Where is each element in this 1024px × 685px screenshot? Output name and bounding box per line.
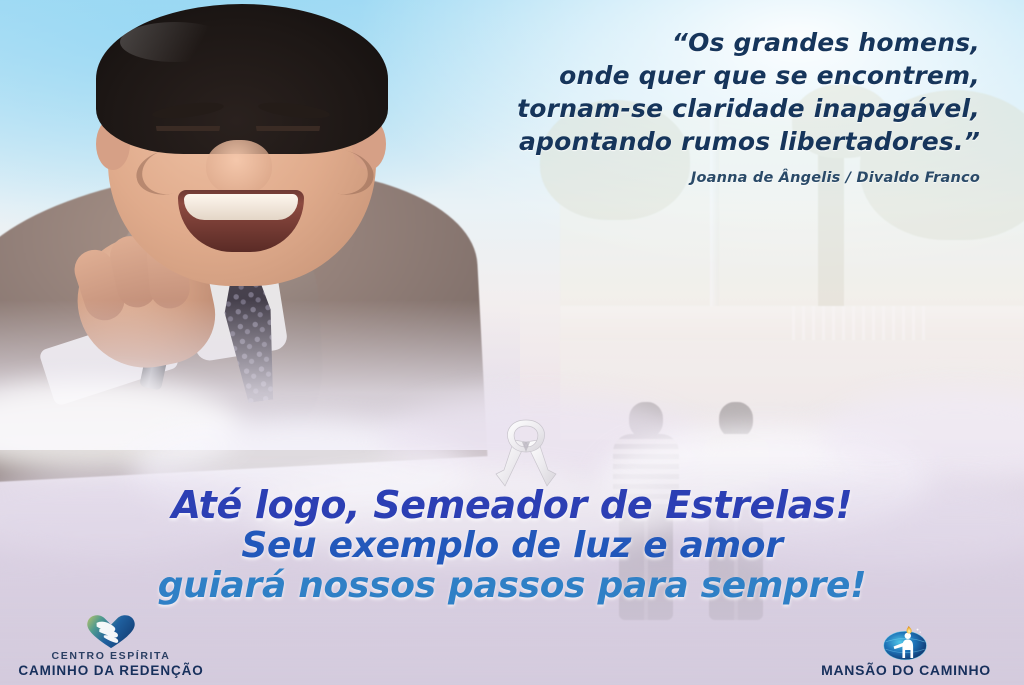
portrait-eye bbox=[156, 126, 220, 143]
photo-person-head bbox=[629, 402, 663, 438]
portrait-teeth bbox=[184, 194, 298, 220]
quote-block: “Os grandes homens, onde quer que se enc… bbox=[420, 26, 980, 186]
heart-hands-icon bbox=[8, 610, 214, 650]
logo-left-line-1: CENTRO ESPÍRITA bbox=[8, 650, 214, 663]
logo-right-line-1: MANSÃO DO CAMINHO bbox=[796, 662, 1016, 679]
portrait-fade-overlay bbox=[0, 300, 520, 450]
logo-mansao-do-caminho[interactable]: MANSÃO DO CAMINHO bbox=[796, 622, 1016, 679]
quote-attribution: Joanna de Ângelis / Divaldo Franco bbox=[420, 170, 980, 186]
portrait-hair bbox=[96, 4, 388, 154]
quote-line-3: tornam-se claridade inapagável, bbox=[420, 92, 980, 125]
white-mourning-ribbon bbox=[492, 412, 560, 490]
memorial-poster: “Os grandes homens, onde quer que se enc… bbox=[0, 0, 1024, 685]
quote-line-2: onde quer que se encontrem, bbox=[420, 59, 980, 92]
headline-line-3: guiará nossos passos para sempre! bbox=[0, 566, 1024, 606]
portrait-nose bbox=[206, 140, 272, 196]
headline-block: Até logo, Semeador de Estrelas! Seu exem… bbox=[0, 484, 1024, 606]
quote-line-4: apontando rumos libertadores.” bbox=[420, 125, 980, 158]
globe-figure-flame-icon bbox=[796, 622, 1016, 662]
logo-centro-espirita[interactable]: CENTRO ESPÍRITA CAMINHO DA REDENÇÃO bbox=[8, 610, 214, 679]
photo-person-head bbox=[719, 402, 753, 438]
headline-line-1: Até logo, Semeador de Estrelas! bbox=[0, 484, 1024, 526]
portrait-eye bbox=[256, 126, 320, 143]
logo-left-line-2: CAMINHO DA REDENÇÃO bbox=[8, 663, 214, 679]
headline-line-2: Seu exemplo de luz e amor bbox=[0, 526, 1024, 566]
quote-line-1: “Os grandes homens, bbox=[420, 26, 980, 59]
